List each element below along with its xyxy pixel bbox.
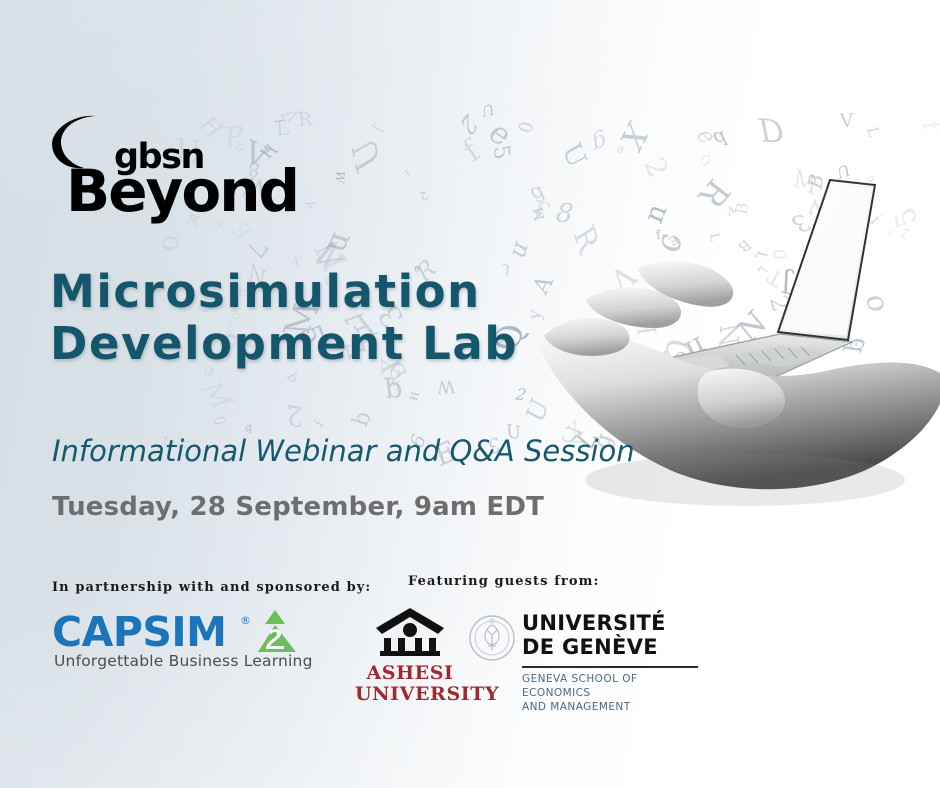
decorative-letter: U <box>346 130 387 179</box>
decorative-letter: 0 <box>884 222 897 238</box>
decorative-letter: g <box>525 179 549 204</box>
unige-school-name: GENEVA SCHOOL OF ECONOMICS AND MANAGEMEN… <box>522 672 698 715</box>
decorative-letter: o <box>615 144 624 156</box>
decorative-letter: W <box>333 169 347 185</box>
decorative-letter: o <box>917 371 940 387</box>
decorative-letter: f <box>457 134 486 169</box>
decorative-letter: B <box>732 201 753 216</box>
decorative-letter: 2 <box>512 385 530 404</box>
decorative-letter: 0 <box>935 168 940 209</box>
decorative-letter: 0 <box>513 119 540 136</box>
decorative-letter: 2 <box>417 189 429 203</box>
decorative-letter: b <box>283 370 303 385</box>
decorative-letter: A <box>757 369 774 400</box>
decorative-letter: 8 <box>802 310 840 341</box>
decorative-letter: n <box>318 229 362 258</box>
decorative-letter: i <box>402 167 414 179</box>
gbsn-beyond-logo: gbsn Beyond <box>48 108 308 218</box>
decorative-letter: Q <box>657 334 701 370</box>
decorative-letter: b <box>347 408 377 429</box>
featuring-caption: Featuring guests from: <box>408 574 599 589</box>
registered-trademark-icon: ® <box>240 614 251 627</box>
decorative-letter: f <box>655 227 662 242</box>
decorative-letter: N <box>732 303 774 350</box>
decorative-letter: M <box>532 205 548 223</box>
decorative-letter: Q <box>602 323 615 341</box>
decorative-letter: 7 <box>238 237 275 261</box>
decorative-letter: E <box>681 354 698 369</box>
decorative-letter: 2 <box>739 352 767 384</box>
decorative-letter: 3 <box>784 208 816 237</box>
decorative-letter: U <box>556 138 592 173</box>
webinar-promo-poster: 8MALfLoeLR7i2MNHXio2DEfXLU3oVqf8NcMqRBJM… <box>0 0 940 788</box>
decorative-letter: M <box>386 375 401 393</box>
decorative-letter: i <box>866 212 887 227</box>
decorative-letter: c <box>623 358 642 379</box>
decorative-letter: 0 <box>789 373 804 391</box>
decorative-letter: E <box>790 404 813 437</box>
partnership-caption: In partnership with and sponsored by: <box>52 580 371 595</box>
decorative-letter: L <box>708 231 722 242</box>
decorative-letter: q <box>245 419 252 435</box>
ashesi-name-line-1: ASHESI <box>355 663 465 684</box>
decorative-letter: 7 <box>896 390 929 405</box>
unige-divider <box>522 666 698 668</box>
geneva-seal-icon <box>468 614 516 667</box>
decorative-letter: q <box>708 125 730 148</box>
event-datetime: Tuesday, 28 September, 9am EDT <box>52 492 544 522</box>
decorative-letter: Z <box>804 196 837 229</box>
decorative-letter: B <box>686 400 733 433</box>
decorative-letter: n <box>507 237 537 265</box>
decorative-letter: U <box>482 100 494 119</box>
decorative-letter: 0 <box>823 386 850 423</box>
decorative-letter: 7 <box>724 336 746 362</box>
hand-holding-laptop-image <box>530 150 940 570</box>
universite-de-geneve-logo: UNIVERSITÉ DE GENÈVE GENEVA SCHOOL OF EC… <box>468 612 698 704</box>
decorative-letter: U <box>679 264 707 284</box>
decorative-letter: o <box>858 292 897 315</box>
decorative-letter: 2 <box>654 283 667 305</box>
decorative-letter: R <box>691 172 738 215</box>
decorative-letter: 2 <box>285 398 303 434</box>
decorative-letter: 5 <box>586 410 599 422</box>
decorative-letter: q <box>383 375 405 409</box>
decorative-letter: n <box>638 199 673 228</box>
headline-line-2: Development Lab <box>50 318 570 370</box>
decorative-letter: f <box>578 371 600 402</box>
decorative-letter: 0 <box>211 415 231 426</box>
decorative-letter: 8 <box>670 346 693 369</box>
decorative-letter: U <box>836 160 851 182</box>
decorative-letter: f <box>915 120 940 132</box>
decorative-letter: o <box>592 296 618 316</box>
page-title: Microsimulation Development Lab <box>50 266 570 370</box>
decorative-letter: H <box>408 391 422 402</box>
decorative-letter: A <box>834 294 851 307</box>
decorative-letter: V <box>603 256 641 298</box>
decorative-letter: J <box>781 265 793 300</box>
decorative-letter: J <box>830 191 840 205</box>
decorative-letter: e <box>481 115 520 153</box>
decorative-letter: L <box>752 250 771 261</box>
decorative-letter: c <box>864 173 877 187</box>
decorative-letter: B <box>804 170 828 193</box>
decorative-letter: g <box>591 126 607 158</box>
decorative-letter: e <box>688 125 725 147</box>
decorative-letter: 5 <box>488 142 513 162</box>
decorative-letter: J <box>369 122 386 133</box>
decorative-letter: 2 <box>456 106 480 141</box>
headline-line-1: Microsimulation <box>50 266 570 318</box>
decorative-letter: N <box>714 320 747 350</box>
decorative-letter: 2 <box>898 224 912 241</box>
decorative-letter: 2 <box>637 152 674 182</box>
decorative-letter: 2 <box>763 292 796 316</box>
decorative-letter: B <box>734 237 755 255</box>
decorative-letter: 3 <box>531 196 555 223</box>
decorative-letter: 2 <box>781 300 800 324</box>
decorative-letter: f <box>596 412 617 422</box>
decorative-letter: A <box>887 361 902 372</box>
capsim-logo: CAPSIM ® Unforgettable Business Learning <box>52 608 292 678</box>
decorative-letter: X <box>614 113 652 157</box>
capsim-tagline: Unforgettable Business Learning <box>54 652 313 670</box>
decorative-letter: R <box>567 219 604 260</box>
decorative-letter: T <box>815 291 845 322</box>
decorative-letter: T <box>809 215 831 234</box>
decorative-letter: D <box>755 113 788 151</box>
decorative-letter: T <box>833 369 858 399</box>
decorative-letter: n <box>680 329 712 368</box>
decorative-letter: V <box>860 380 886 402</box>
decorative-letter: 7 <box>755 265 774 275</box>
unige-name: UNIVERSITÉ DE GENÈVE <box>522 612 666 659</box>
decorative-letter: q <box>841 336 877 354</box>
decorative-letter: V <box>839 110 854 131</box>
decorative-letter: 8 <box>551 197 578 229</box>
decorative-letter: J <box>828 399 854 417</box>
decorative-letter: L <box>651 284 682 316</box>
decorative-letter: 2 <box>845 338 860 349</box>
event-subtitle: Informational Webinar and Q&A Session <box>52 434 635 468</box>
decorative-letter: Q <box>698 150 714 169</box>
decorative-letter: T <box>763 264 786 293</box>
decorative-letter: b <box>633 317 662 336</box>
decorative-letter: U <box>802 330 827 349</box>
decorative-letter: E <box>665 232 681 247</box>
decorative-letter: A <box>602 370 612 385</box>
decorative-letter: W <box>828 178 873 217</box>
ashesi-university-logo: ASHESI UNIVERSITY <box>355 606 465 706</box>
decorative-letter: 0 <box>768 247 789 260</box>
capsim-wordmark: CAPSIM <box>52 612 226 653</box>
logo-beyond-text: Beyond <box>66 162 298 220</box>
ashesi-name-line-2: UNIVERSITY <box>355 684 465 705</box>
decorative-letter: c <box>649 229 689 256</box>
decorative-letter: i <box>311 418 326 432</box>
decorative-letter: 5 <box>888 201 922 233</box>
decorative-letter: M <box>191 378 242 412</box>
decorative-letter: M <box>792 163 818 202</box>
ashesi-building-icon <box>355 606 465 663</box>
decorative-letter: W <box>436 376 456 397</box>
decorative-letter: U <box>522 393 555 427</box>
decorative-letter: A <box>726 202 738 218</box>
decorative-letter: o <box>148 234 186 253</box>
decorative-letter: L <box>863 125 883 139</box>
